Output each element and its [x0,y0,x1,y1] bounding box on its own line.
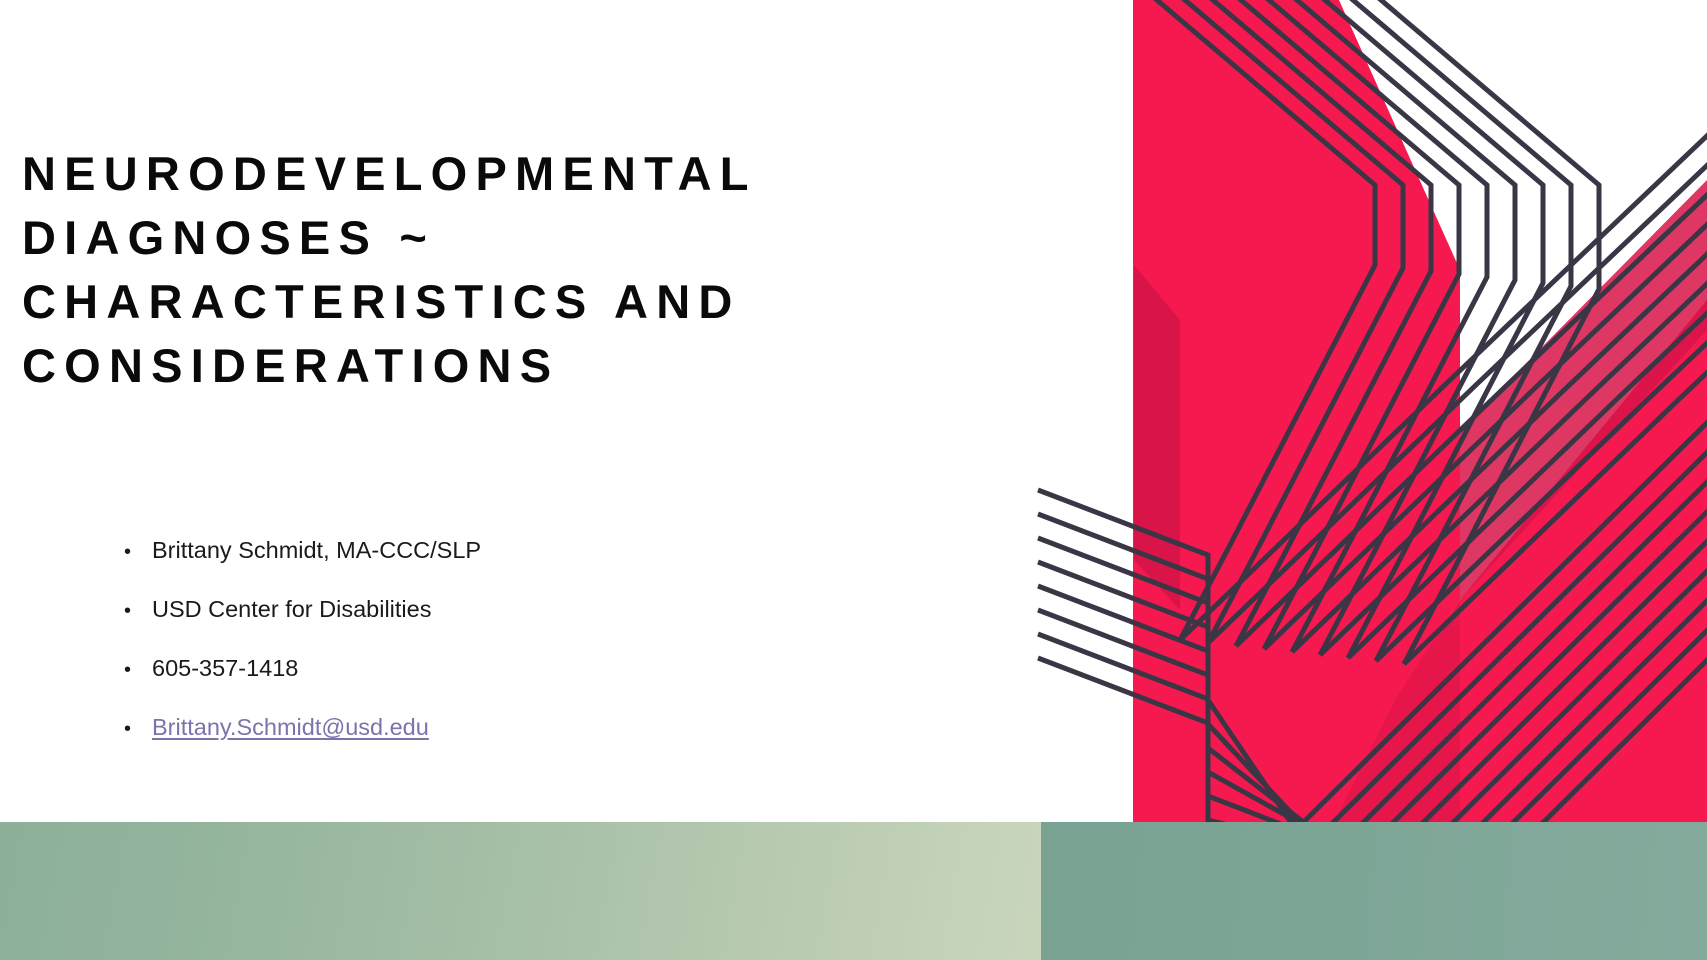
phone-number: 605-357-1418 [152,639,298,698]
list-item: • 605-357-1418 [112,639,872,698]
bullet-point-icon: • [112,582,152,641]
chevron-artwork [1030,0,1707,830]
footer-bar [0,822,1707,960]
crimson-primary [1134,0,1460,700]
crimson-shape-left [1133,0,1450,830]
crimson-fold-left [1134,265,1180,610]
list-item: • Brittany Schmidt, MA-CCC/SLP [112,521,872,580]
stripe-chevron-right [1180,95,1707,664]
title-block: NEURODEVELOPMENTAL DIAGNOSES ~ CHARACTER… [22,142,982,398]
page-title: NEURODEVELOPMENTAL DIAGNOSES ~ CHARACTER… [22,142,982,398]
stripe-chevron-lower-right [1245,400,1707,830]
list-item: • Brittany.Schmidt@usd.edu [112,698,872,757]
bullet-point-icon: • [112,523,152,582]
chevron-artwork-svg [1030,0,1707,830]
subtitle-bullet-list: • Brittany Schmidt, MA-CCC/SLP • USD Cen… [112,521,872,757]
footer-bar-left-gradient [0,822,1041,960]
footer-bar-right-teal [1041,822,1707,960]
crimson-shape-left-upper [1133,0,1450,830]
presenter-name: Brittany Schmidt, MA-CCC/SLP [152,521,481,580]
bullet-point-icon: • [112,641,152,700]
list-item: • USD Center for Disabilities [112,580,872,639]
bullet-point-icon: • [112,700,152,759]
crimson-fold-right [1460,180,1707,600]
crimson-fold-bottom [1330,600,1460,830]
organization-name: USD Center for Disabilities [152,580,431,639]
crimson-wedge-top [1134,0,1330,360]
stripe-chevron-lower-left [1038,490,1498,830]
crimson-lower-diagonal [1330,300,1707,830]
crimson-wedge-left [1134,0,1220,362]
stripe-chevron-top [1045,0,1599,664]
presentation-slide: NEURODEVELOPMENTAL DIAGNOSES ~ CHARACTER… [0,0,1707,960]
email-link[interactable]: Brittany.Schmidt@usd.edu [152,698,429,757]
